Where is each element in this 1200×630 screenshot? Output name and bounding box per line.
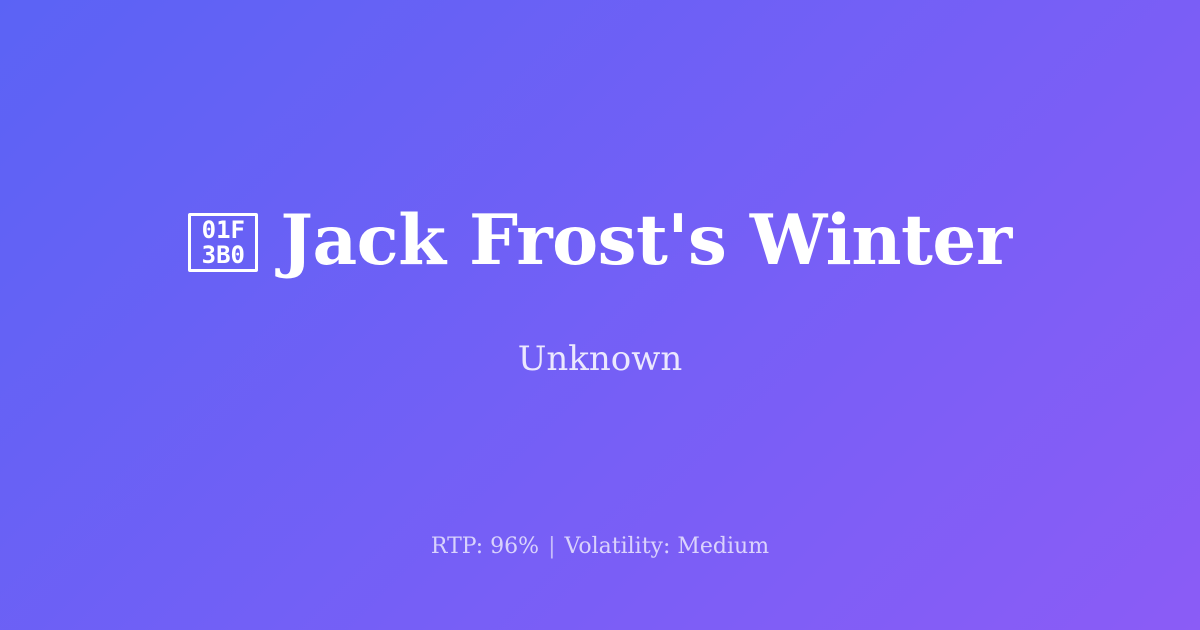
slot-machine-icon: 01F 3B0	[188, 213, 258, 272]
game-meta: RTP: 96% | Volatility: Medium	[0, 534, 1200, 560]
provider-label: Unknown	[518, 339, 683, 380]
meta-separator: |	[548, 534, 555, 560]
game-preview-card: 01F 3B0 Jack Frost's Winter Unknown RTP:…	[0, 0, 1200, 630]
volatility-value: Volatility: Medium	[565, 534, 770, 560]
page-title: Jack Frost's Winter	[280, 204, 1011, 277]
rtp-value: RTP: 96%	[431, 534, 539, 560]
title-row: 01F 3B0 Jack Frost's Winter	[188, 204, 1011, 277]
codepoint-high: 01F	[202, 218, 245, 243]
codepoint-low: 3B0	[202, 243, 245, 268]
